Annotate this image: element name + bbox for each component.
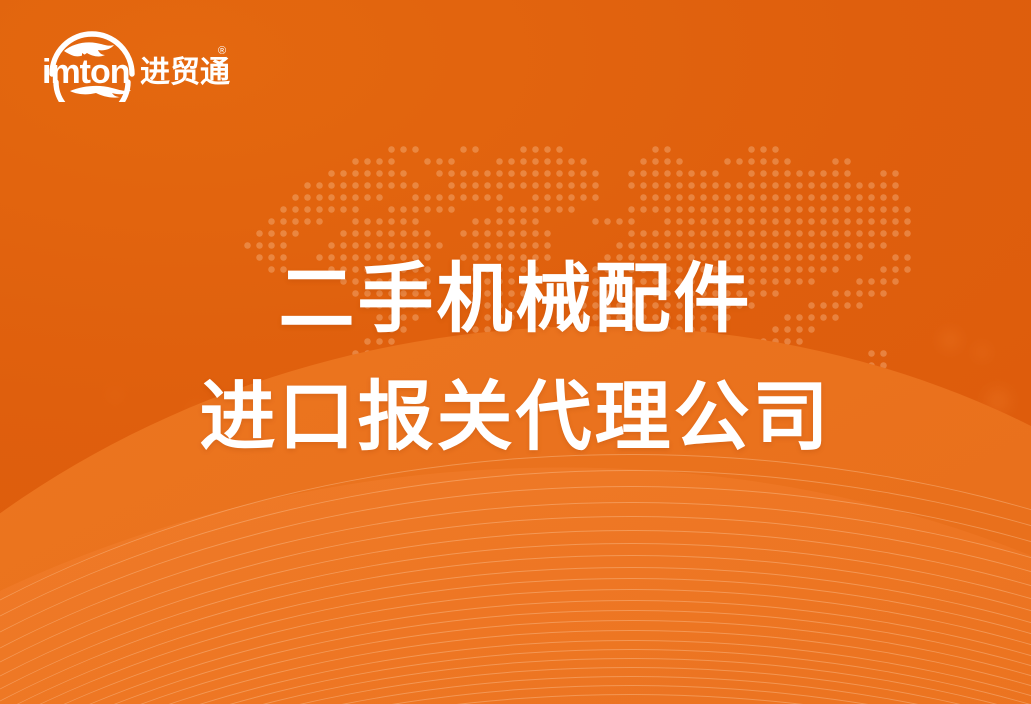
fan-lines-icon <box>0 444 1031 704</box>
brand-logo[interactable]: imton 进贸通 ® <box>36 28 232 102</box>
headline-block: 二手机械配件 进口报关代理公司 <box>0 252 1031 466</box>
registered-mark: ® <box>218 45 226 57</box>
promo-banner: imton 进贸通 ® 二手机械配件 进口报关代理公司 <box>0 0 1031 704</box>
logo-wordmark-latin: imton <box>42 53 130 91</box>
logo-wordmark-cn: 进贸通 <box>140 56 230 89</box>
globe-logo-icon: imton 进贸通 ® <box>36 28 232 102</box>
headline-line-1: 二手机械配件 <box>0 252 1031 348</box>
headline-line-2: 进口报关代理公司 <box>0 370 1031 466</box>
